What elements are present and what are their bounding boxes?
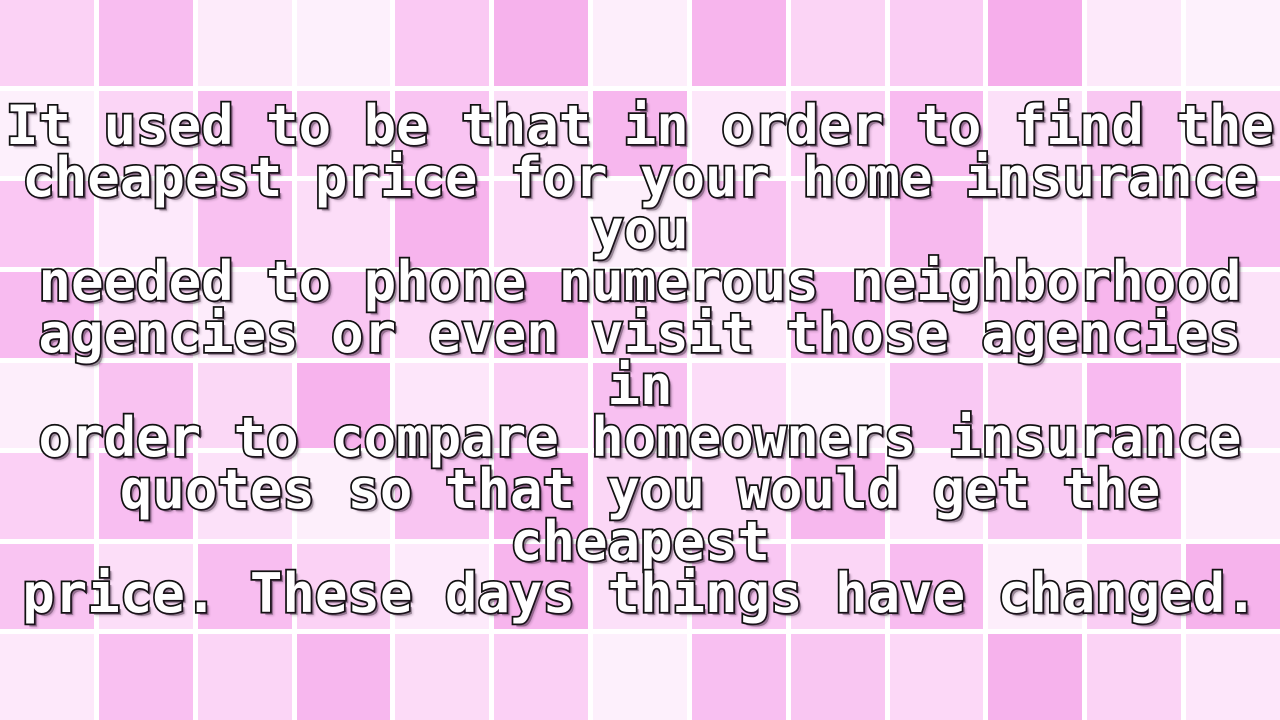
tile-4-8 — [791, 363, 885, 449]
tile-5-0 — [0, 453, 94, 539]
tile-2-0 — [0, 181, 94, 267]
tile-3-7 — [692, 272, 786, 358]
tile-4-5 — [494, 363, 588, 449]
tile-1-1 — [99, 91, 193, 177]
tile-background-grid — [0, 0, 1280, 720]
tile-6-2 — [198, 544, 292, 630]
tile-0-10 — [988, 0, 1082, 86]
tile-1-7 — [692, 91, 786, 177]
tile-2-4 — [395, 181, 489, 267]
tile-3-0 — [0, 272, 94, 358]
tile-5-6 — [593, 453, 687, 539]
tile-4-10 — [988, 363, 1082, 449]
tile-7-0 — [0, 634, 94, 720]
tile-0-5 — [494, 0, 588, 86]
tile-2-10 — [988, 181, 1082, 267]
tile-3-11 — [1087, 272, 1181, 358]
tile-6-5 — [494, 544, 588, 630]
tile-0-9 — [890, 0, 984, 86]
tile-6-12 — [1186, 544, 1280, 630]
tile-2-12 — [1186, 181, 1280, 267]
tile-4-1 — [99, 363, 193, 449]
tile-2-7 — [692, 181, 786, 267]
tile-2-3 — [297, 181, 391, 267]
tile-3-6 — [593, 272, 687, 358]
tile-6-1 — [99, 544, 193, 630]
tile-3-3 — [297, 272, 391, 358]
tile-6-11 — [1087, 544, 1181, 630]
tile-6-0 — [0, 544, 94, 630]
tile-3-10 — [988, 272, 1082, 358]
tile-2-9 — [890, 181, 984, 267]
tile-4-7 — [692, 363, 786, 449]
tile-4-12 — [1186, 363, 1280, 449]
tile-0-11 — [1087, 0, 1181, 86]
tile-4-2 — [198, 363, 292, 449]
tile-5-10 — [988, 453, 1082, 539]
tile-7-10 — [988, 634, 1082, 720]
tile-5-12 — [1186, 453, 1280, 539]
tile-4-4 — [395, 363, 489, 449]
tile-4-11 — [1087, 363, 1181, 449]
tile-1-8 — [791, 91, 885, 177]
tile-4-6 — [593, 363, 687, 449]
tile-5-11 — [1087, 453, 1181, 539]
tile-6-3 — [297, 544, 391, 630]
tile-6-7 — [692, 544, 786, 630]
tile-6-9 — [890, 544, 984, 630]
tile-7-6 — [593, 634, 687, 720]
tile-3-2 — [198, 272, 292, 358]
tile-7-9 — [890, 634, 984, 720]
tile-5-8 — [791, 453, 885, 539]
tile-5-5 — [494, 453, 588, 539]
tile-5-7 — [692, 453, 786, 539]
tile-7-8 — [791, 634, 885, 720]
tile-0-1 — [99, 0, 193, 86]
tile-1-5 — [494, 91, 588, 177]
tile-2-1 — [99, 181, 193, 267]
tile-3-1 — [99, 272, 193, 358]
tile-2-8 — [791, 181, 885, 267]
tile-0-8 — [791, 0, 885, 86]
tile-2-2 — [198, 181, 292, 267]
tile-3-9 — [890, 272, 984, 358]
tile-7-1 — [99, 634, 193, 720]
tile-7-4 — [395, 634, 489, 720]
tile-5-2 — [198, 453, 292, 539]
tile-4-3 — [297, 363, 391, 449]
tile-0-2 — [198, 0, 292, 86]
tile-1-9 — [890, 91, 984, 177]
tile-1-10 — [988, 91, 1082, 177]
tile-0-12 — [1186, 0, 1280, 86]
quote-card-canvas: It used to be that in order to find the … — [0, 0, 1280, 720]
tile-0-7 — [692, 0, 786, 86]
tile-1-4 — [395, 91, 489, 177]
tile-1-11 — [1087, 91, 1181, 177]
tile-7-3 — [297, 634, 391, 720]
tile-1-6 — [593, 91, 687, 177]
tile-1-3 — [297, 91, 391, 177]
tile-6-4 — [395, 544, 489, 630]
tile-3-12 — [1186, 272, 1280, 358]
tile-4-9 — [890, 363, 984, 449]
tile-6-8 — [791, 544, 885, 630]
tile-1-2 — [198, 91, 292, 177]
tile-3-8 — [791, 272, 885, 358]
tile-7-12 — [1186, 634, 1280, 720]
tile-7-2 — [198, 634, 292, 720]
tile-0-3 — [297, 0, 391, 86]
tile-7-7 — [692, 634, 786, 720]
tile-5-1 — [99, 453, 193, 539]
tile-5-4 — [395, 453, 489, 539]
tile-7-5 — [494, 634, 588, 720]
tile-4-0 — [0, 363, 94, 449]
tile-0-0 — [0, 0, 94, 86]
tile-7-11 — [1087, 634, 1181, 720]
tile-3-5 — [494, 272, 588, 358]
tile-1-0 — [0, 91, 94, 177]
tile-6-6 — [593, 544, 687, 630]
tile-2-5 — [494, 181, 588, 267]
tile-1-12 — [1186, 91, 1280, 177]
tile-0-6 — [593, 0, 687, 86]
tile-2-6 — [593, 181, 687, 267]
tile-5-9 — [890, 453, 984, 539]
tile-3-4 — [395, 272, 489, 358]
tile-5-3 — [297, 453, 391, 539]
tile-0-4 — [395, 0, 489, 86]
tile-2-11 — [1087, 181, 1181, 267]
tile-6-10 — [988, 544, 1082, 630]
